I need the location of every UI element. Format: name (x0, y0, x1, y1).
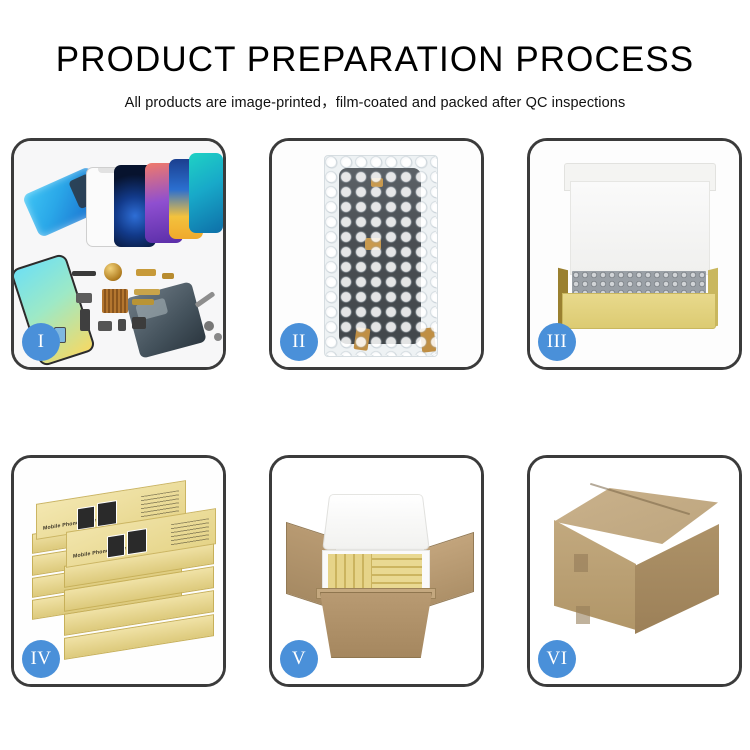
process-step-panel-4[interactable]: Mobile Phone Spare Parts Mobile Phone Sp… (11, 455, 226, 687)
step-badge-5: V (280, 640, 318, 678)
bubble-wrap-bag-icon (324, 155, 438, 357)
step-badge-3: III (538, 323, 576, 361)
box-artwork-screen-icon (107, 534, 125, 559)
process-step-grid: I II (0, 0, 750, 750)
foam-liner-icon (570, 181, 710, 275)
screw-icon (214, 333, 222, 341)
flex-connector-icon (420, 327, 436, 352)
spare-part-icon (118, 319, 126, 331)
spare-part-icon (72, 271, 96, 276)
carton-body-icon (320, 592, 432, 658)
spare-part-icon (80, 309, 90, 331)
flex-connector-icon (371, 178, 383, 187)
process-step-panel-2[interactable]: II (269, 138, 484, 370)
carton-tape-icon (574, 554, 588, 572)
process-step-panel-1[interactable]: I (11, 138, 226, 370)
screwdriver-icon (195, 291, 216, 308)
spare-part-icon (162, 273, 174, 279)
spare-part-icon (76, 293, 92, 303)
process-step-panel-3[interactable]: III (527, 138, 742, 370)
carton-tape-icon (576, 606, 590, 624)
flex-cable-icon (134, 289, 160, 295)
flex-connector-icon (365, 238, 381, 250)
spare-part-icon (98, 321, 112, 331)
box-spec-lines-icon (171, 518, 209, 546)
step-badge-6: VI (538, 640, 576, 678)
box-artwork-screen-icon (127, 528, 147, 555)
process-step-panel-5[interactable]: V (269, 455, 484, 687)
box-front-panel-icon (562, 293, 716, 329)
lcd-assembly-icon (339, 168, 421, 344)
step-badge-4: IV (22, 640, 60, 678)
yellow-boxes-stack-icon (372, 554, 422, 590)
step-badge-1: I (22, 323, 60, 361)
logic-board-chip-icon (102, 289, 128, 313)
process-step-panel-6[interactable]: VI (527, 455, 742, 687)
spare-part-icon (136, 269, 156, 276)
flex-cable-icon (132, 299, 154, 305)
flex-connector-icon (354, 327, 371, 351)
carton-front-face-icon (554, 520, 636, 630)
spare-part-icon (132, 317, 146, 329)
foam-lid-icon (322, 494, 430, 550)
step-badge-2: II (280, 323, 318, 361)
speaker-module-icon (104, 263, 122, 281)
teal-gradient-phone-icon (189, 153, 223, 233)
screw-icon (204, 321, 214, 331)
